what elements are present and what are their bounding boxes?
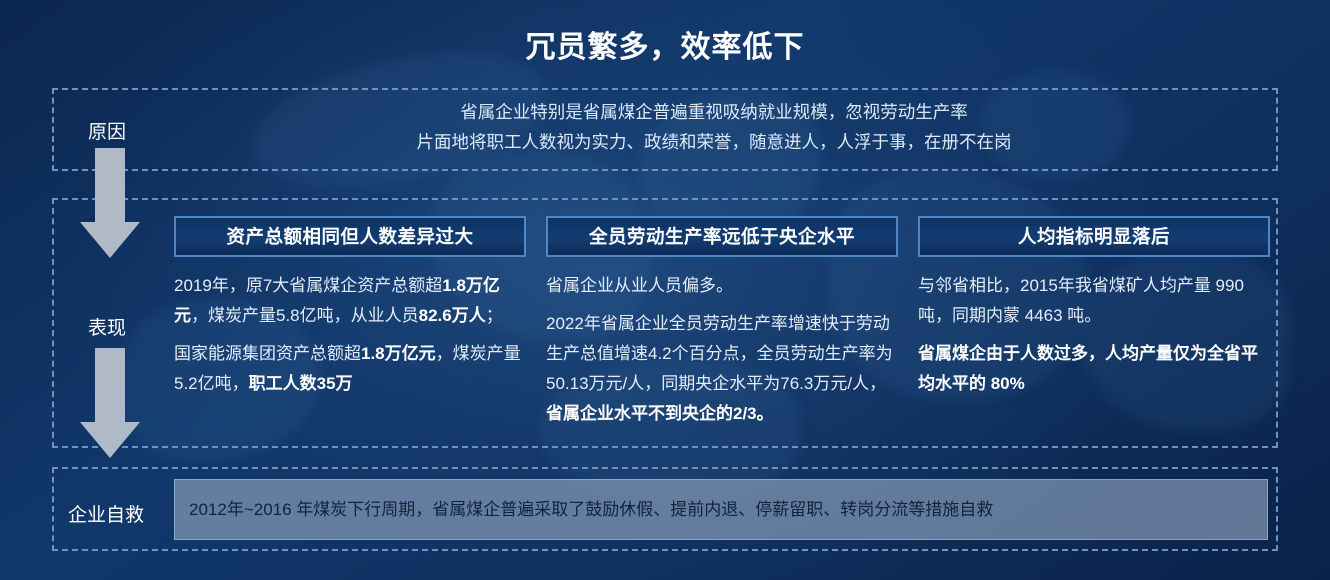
emphasis-text: 省属企业水平不到央企的2/3。 — [546, 404, 774, 423]
paragraph: 省属煤企由于人数过多，人均产量仅为全省平均水平的 80% — [918, 339, 1270, 399]
cause-section-text: 省属企业特别是省属煤企普遍重视吸纳就业规模，忽视劳动生产率 片面地将职工人数视为… — [160, 97, 1268, 157]
performance-column: 人均指标明显落后 与邻省相比，2015年我省煤矿人均产量 990吨，同期内蒙 4… — [918, 216, 1270, 401]
performance-column-body: 与邻省相比，2015年我省煤矿人均产量 990吨，同期内蒙 4463 吨。省属煤… — [918, 271, 1270, 399]
body-text: 国家能源集团资产总额超 — [174, 344, 361, 363]
performance-section-label: 表现 — [88, 313, 126, 340]
rescue-section-label: 企业自救 — [68, 500, 144, 527]
cause-line-2: 片面地将职工人数视为实力、政绩和荣誉，随意进人，人浮于事，在册不在岗 — [160, 127, 1268, 157]
down-arrow-icon — [80, 148, 140, 258]
emphasis-text: 省属煤企由于人数过多， — [918, 344, 1105, 363]
paragraph: 2022年省属企业全员劳动生产率增速快于劳动生产总值增速4.2个百分点，全员劳动… — [546, 309, 898, 429]
emphasis-text: 82.6万人 — [419, 306, 486, 325]
paragraph: 省属企业从业人员偏多。 — [546, 271, 898, 301]
performance-column-header: 资产总额相同但人数差异过大 — [174, 216, 526, 257]
rescue-panel: 2012年~2016 年煤炭下行周期，省属煤企普遍采取了鼓励休假、提前内退、停薪… — [174, 479, 1268, 540]
performance-column-header: 人均指标明显落后 — [918, 216, 1270, 257]
paragraph: 国家能源集团资产总额超1.8万亿元，煤炭产量5.2亿吨，职工人数35万 — [174, 339, 526, 399]
paragraph: 2019年，原7大省属煤企资产总额超1.8万亿元，煤炭产量5.8亿吨，从业人员8… — [174, 271, 526, 331]
down-arrow-icon — [80, 348, 140, 458]
emphasis-text: 1.8万亿元 — [361, 344, 436, 363]
rescue-text: 2012年~2016 年煤炭下行周期，省属煤企普遍采取了鼓励休假、提前内退、停薪… — [175, 497, 993, 523]
cause-line-1: 省属企业特别是省属煤企普遍重视吸纳就业规模，忽视劳动生产率 — [160, 97, 1268, 127]
performance-column-body: 省属企业从业人员偏多。2022年省属企业全员劳动生产率增速快于劳动生产总值增速4… — [546, 271, 898, 429]
emphasis-text: 职工人数35万 — [249, 374, 353, 393]
performance-column: 全员劳动生产率远低于央企水平 省属企业从业人员偏多。2022年省属企业全员劳动生… — [546, 216, 898, 431]
paragraph: 与邻省相比，2015年我省煤矿人均产量 990吨，同期内蒙 4463 吨。 — [918, 271, 1270, 331]
performance-column-header: 全员劳动生产率远低于央企水平 — [546, 216, 898, 257]
cause-section-label: 原因 — [88, 117, 126, 144]
body-text: ，煤炭产量5.8亿吨，从业人员 — [191, 306, 419, 325]
arrow-shaft — [95, 348, 125, 422]
slide-canvas: 冗员繁多，效率低下 原因 省属企业特别是省属煤企普遍重视吸纳就业规模，忽视劳动生… — [0, 0, 1330, 580]
arrow-head — [80, 222, 140, 258]
body-text: 省属企业从业人员偏多。 — [546, 276, 733, 295]
arrow-head — [80, 422, 140, 458]
performance-column-body: 2019年，原7大省属煤企资产总额超1.8万亿元，煤炭产量5.8亿吨，从业人员8… — [174, 271, 526, 399]
slide-title: 冗员繁多，效率低下 — [0, 22, 1330, 66]
body-text: 与邻省相比，2015年我省煤矿人均产量 990吨，同期内蒙 4463 吨。 — [918, 276, 1244, 325]
arrow-shaft — [95, 148, 125, 222]
body-text: 2022年省属企业全员劳动生产率增速快于劳动生产总值增速4.2个百分点，全员劳动… — [546, 314, 893, 393]
body-text: ； — [486, 306, 503, 325]
performance-column: 资产总额相同但人数差异过大 2019年，原7大省属煤企资产总额超1.8万亿元，煤… — [174, 216, 526, 401]
body-text: 2019年，原7大省属煤企资产总额超 — [174, 276, 442, 295]
